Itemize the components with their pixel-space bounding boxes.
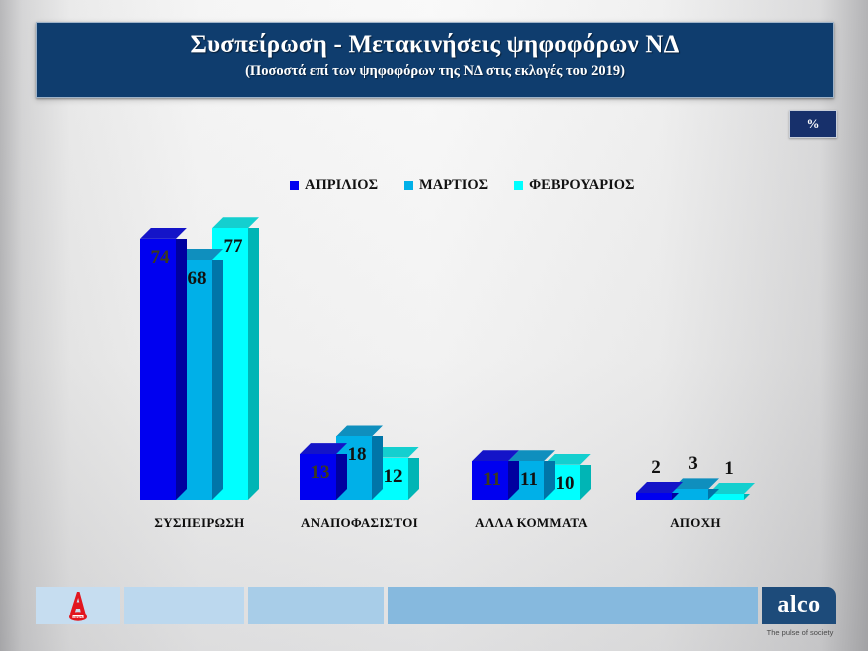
bar-value-label: 77 bbox=[215, 236, 251, 258]
bar[interactable]: 74 bbox=[140, 239, 176, 500]
bar-top-face bbox=[212, 217, 259, 228]
footer-block-2 bbox=[248, 587, 384, 624]
bar-side-face bbox=[248, 228, 259, 500]
category-axis: ΣΥΣΠΕΙΡΩΣΗ ΑΝΑΠΟΦΑΣΙΣΤΟΙ ΑΛΛΑ ΚΟΜΜΑΤΑ ΑΠ… bbox=[0, 515, 868, 535]
unit-badge: % bbox=[789, 110, 837, 138]
bar[interactable]: 13 bbox=[300, 454, 336, 500]
svg-text:NEWS: NEWS bbox=[73, 614, 82, 618]
bar-side-face bbox=[176, 239, 187, 500]
bar-value-label: 3 bbox=[675, 453, 711, 475]
bar-side-face bbox=[212, 260, 223, 500]
category-label-3: ΑΠΟΧΗ bbox=[566, 515, 825, 531]
anews-icon: NEWS bbox=[61, 590, 95, 622]
bar-chart-plot: 776874121813101111132 bbox=[0, 150, 868, 510]
anews-logo: NEWS bbox=[36, 587, 120, 624]
bar-value-label: 74 bbox=[142, 247, 178, 269]
footer-block-3 bbox=[388, 587, 758, 624]
bar-group: 776874 bbox=[140, 150, 259, 510]
footer-block-1 bbox=[124, 587, 244, 624]
bar-front-face bbox=[708, 494, 744, 500]
bar[interactable]: 11 bbox=[472, 461, 508, 500]
bar-value-label: 2 bbox=[638, 457, 674, 479]
title-banner: Συσπείρωση - Μετακινήσεις ψηφοφόρων ΝΔ (… bbox=[36, 22, 834, 98]
bar-value-label: 1 bbox=[711, 458, 747, 480]
page-title: Συσπείρωση - Μετακινήσεις ψηφοφόρων ΝΔ bbox=[37, 32, 833, 58]
bar-front-face bbox=[636, 493, 672, 500]
alco-logo: alco bbox=[762, 587, 836, 624]
bar-group: 132 bbox=[636, 150, 755, 510]
footer: NEWS alco The pulse of society bbox=[0, 573, 868, 651]
bar-top-face bbox=[140, 228, 187, 239]
bar-group: 121813 bbox=[300, 150, 419, 510]
bar-value-label: 11 bbox=[474, 469, 510, 491]
bar-front-face bbox=[140, 239, 176, 500]
bar[interactable]: 1 bbox=[708, 494, 744, 500]
bar-value-label: 13 bbox=[302, 462, 338, 484]
alco-wordmark: alco bbox=[777, 593, 820, 617]
bar-group: 101111 bbox=[472, 150, 591, 510]
bar-front-face bbox=[672, 489, 708, 500]
bar-side-face bbox=[744, 494, 755, 500]
bar[interactable]: 2 bbox=[636, 493, 672, 500]
page-subtitle: (Ποσοστά επί των ψηφοφόρων της ΝΔ στις ε… bbox=[37, 63, 833, 80]
alco-tagline: The pulse of society bbox=[758, 628, 842, 637]
bar[interactable]: 3 bbox=[672, 489, 708, 500]
slide-canvas: Συσπείρωση - Μετακινήσεις ψηφοφόρων ΝΔ (… bbox=[0, 0, 868, 651]
bar-top-face bbox=[336, 425, 383, 436]
